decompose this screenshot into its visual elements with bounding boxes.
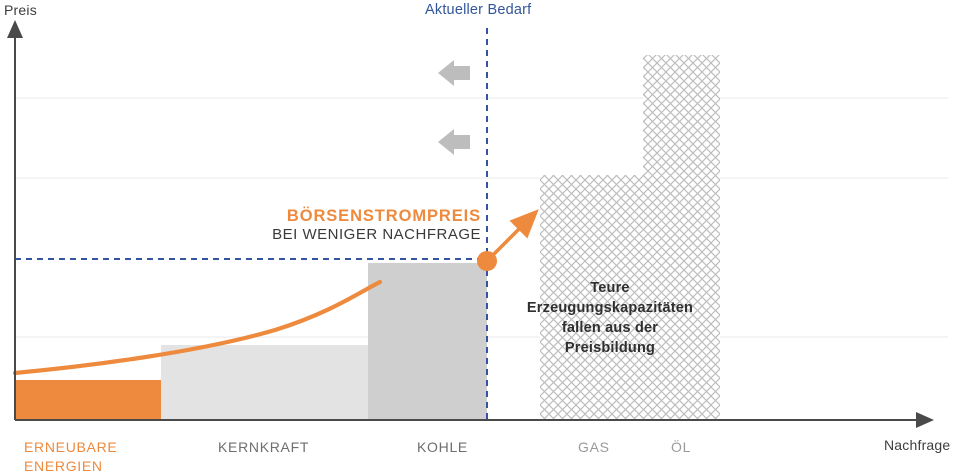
category-label-coal: KOHLE [417,438,468,457]
bar-nuclear [161,345,368,420]
category-label-oil: ÖL [671,438,691,457]
category-label-nuclear: KERNKRAFT [218,438,309,457]
bar-coal [368,263,487,420]
bar-oil [643,55,720,420]
y-axis-title: Preis [4,2,37,18]
bar-renewables [15,380,161,420]
category-label-renewables: ERNEUBARE ENERGIEN [24,438,117,476]
current-demand-label: Aktueller Bedarf [425,2,531,18]
demand-shift-arrow-lower [438,129,470,155]
market-price-annotation: BÖRSENSTROMPREIS BEI WENIGER NACHFRAGE [0,206,485,245]
excluded-capacity-line-3: fallen aus der [508,318,712,338]
x-axis-title: Nachfrage [884,437,950,453]
category-label-oil-line-1: ÖL [671,438,691,457]
category-label-coal-line-1: KOHLE [417,438,468,457]
excluded-capacity-caption: Teure Erzeugungskapazitäten fallen aus d… [508,278,712,358]
excluded-capacity-line-1: Teure [508,278,712,298]
category-label-nuclear-line-1: KERNKRAFT [218,438,309,457]
market-price-annotation-title: BÖRSENSTROMPREIS [0,206,485,226]
merit-order-chart: Preis Nachfrage Aktueller Bedarf BÖRSENS… [0,0,960,474]
market-price-annotation-subtitle: BEI WENIGER NACHFRAGE [0,226,485,245]
category-label-renewables-line-2: ENERGIEN [24,457,117,476]
category-label-gas-line-1: GAS [578,438,610,457]
demand-shift-arrow-upper [438,60,470,86]
excluded-capacity-line-4: Preisbildung [508,338,712,358]
category-label-gas: GAS [578,438,610,457]
category-label-renewables-line-1: ERNEUBARE [24,438,117,457]
market-price-point [477,251,497,271]
excluded-capacity-line-2: Erzeugungskapazitäten [508,298,712,318]
market-price-pointer-arrow [492,227,521,256]
